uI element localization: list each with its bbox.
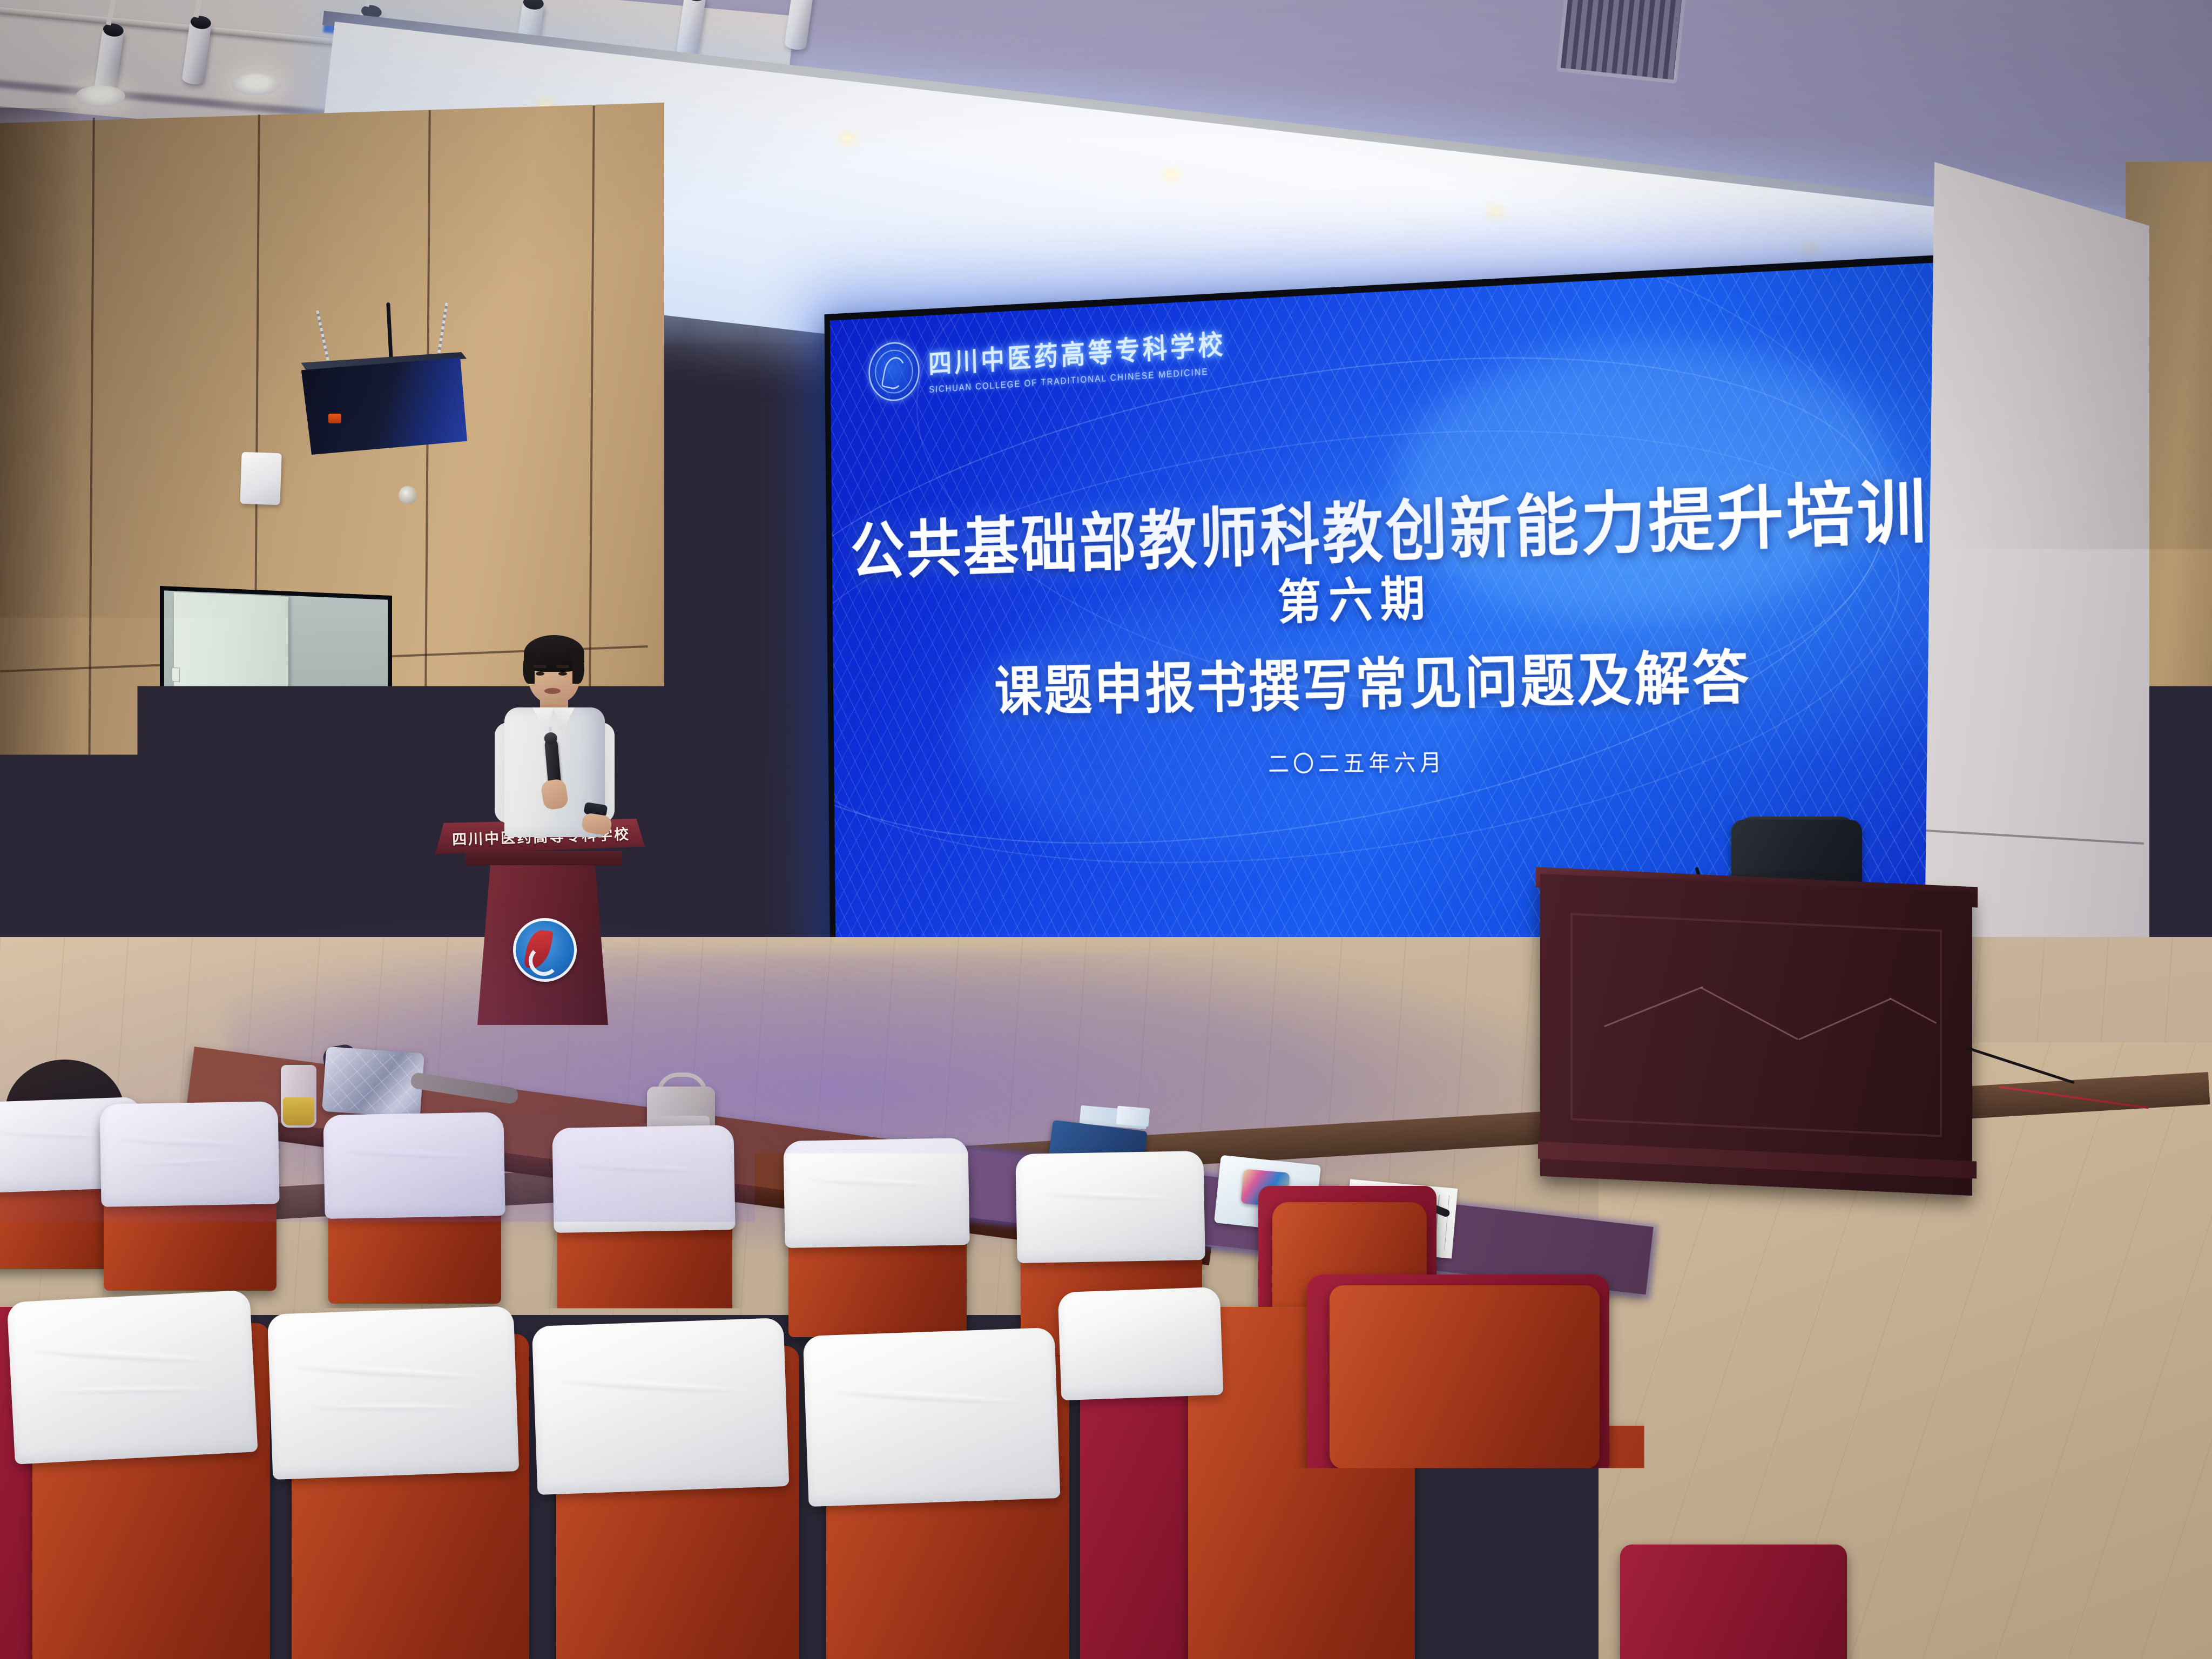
presenter-brow xyxy=(534,665,547,668)
door-hinge-icon xyxy=(172,840,180,855)
seat-headrest-cover xyxy=(99,1101,279,1207)
cover-fold xyxy=(833,1388,1024,1406)
presenter xyxy=(486,632,621,837)
desk-zigzag-detail xyxy=(1798,998,1891,1040)
door-handle-icon[interactable] xyxy=(307,792,319,829)
seat-headrest-cover xyxy=(6,1290,258,1464)
presenter-hair-side xyxy=(523,653,535,684)
lecture-hall-photo: 四川中医药高等专科学校 SICHUAN COLLEGE OF TRADITION… xyxy=(0,0,2212,1659)
ceiling-downlight xyxy=(76,85,125,107)
ceiling-downlight xyxy=(231,73,281,95)
seat-headrest-cover xyxy=(1015,1151,1205,1263)
desk-front-panel xyxy=(1570,913,1942,1137)
trim-spotlight xyxy=(1166,173,1177,178)
auditorium-seat[interactable] xyxy=(1620,1545,1847,1659)
desk-zigzag-detail xyxy=(1604,986,1703,1027)
cover-fold xyxy=(120,1137,252,1148)
ceiling-air-vent-icon xyxy=(1556,0,1686,84)
cover-fold xyxy=(130,1157,243,1168)
desk-zigzag-detail xyxy=(1890,997,1937,1024)
stage-small-cards xyxy=(1116,1105,1150,1127)
pa-speaker xyxy=(294,358,467,455)
seat-headrest-cover xyxy=(323,1112,505,1219)
seat-headrest-cover xyxy=(1058,1287,1224,1400)
seat-headrest-cover xyxy=(267,1306,519,1480)
cover-fold xyxy=(346,1149,478,1160)
auditorium-seat[interactable] xyxy=(1330,1285,1600,1469)
presenter-brow xyxy=(556,665,569,668)
trim-spotlight xyxy=(842,136,853,141)
presenter-eye xyxy=(558,672,567,676)
seat-headrest-cover xyxy=(532,1318,790,1495)
door-sidelight-window xyxy=(331,756,372,826)
left-wall-shadow xyxy=(0,108,81,999)
seat-headrest-cover xyxy=(1179,1462,1484,1659)
trim-spotlight xyxy=(1491,210,1501,214)
seat-headrest-cover xyxy=(552,1125,735,1233)
door-hinge-icon xyxy=(172,720,180,735)
presenter-mouth xyxy=(544,688,561,694)
seat-headrest-cover xyxy=(783,1138,969,1248)
cover-fold xyxy=(295,1364,482,1381)
wall-knob-icon xyxy=(399,486,417,504)
cover-fold xyxy=(561,1378,751,1395)
podium-emblem-icon xyxy=(513,918,577,982)
door-louvre-vent-icon xyxy=(191,747,233,818)
podium-shelf xyxy=(466,851,622,865)
desk-zigzag-detail xyxy=(1701,987,1798,1040)
presenter-hair-side xyxy=(572,653,584,684)
seat-headrest-cover xyxy=(803,1327,1061,1507)
cover-fold xyxy=(35,1348,218,1365)
cover-fold xyxy=(1041,1191,1179,1202)
water-bottle-contents xyxy=(283,1097,314,1125)
cover-fold xyxy=(311,1404,473,1411)
cover-fold xyxy=(49,1386,211,1395)
presenter-eye xyxy=(536,672,544,676)
cover-fold xyxy=(1233,1580,1426,1594)
pa-speaker-badge-icon xyxy=(328,414,341,423)
silver-handbag[interactable] xyxy=(322,1047,424,1118)
door-hinge-icon xyxy=(172,667,180,682)
wall-control-box[interactable] xyxy=(240,452,281,505)
school-emblem-icon xyxy=(868,341,920,403)
cover-fold xyxy=(576,1163,710,1174)
cover-fold xyxy=(1217,1539,1438,1555)
cover-fold xyxy=(808,1177,944,1188)
trim-spotlight xyxy=(1804,246,1815,251)
cover-fold xyxy=(0,1130,110,1139)
